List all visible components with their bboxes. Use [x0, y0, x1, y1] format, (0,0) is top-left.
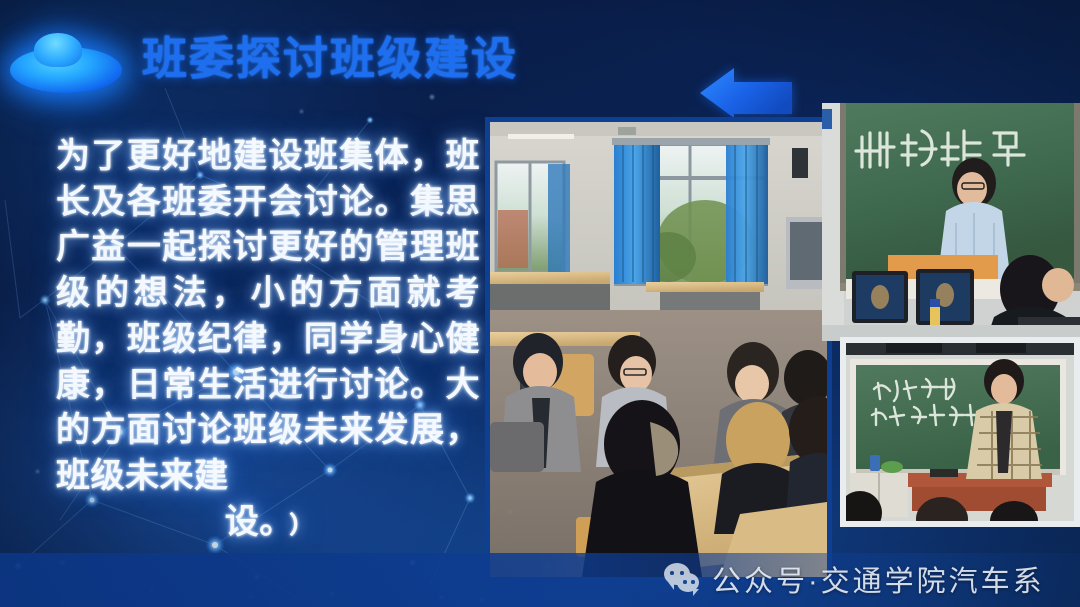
body-paragraph: 为了更好地建设班集体，班长及各班委开会讨论。集思广益一起探讨更好的管理班级的想法… [56, 134, 480, 545]
presentation-slide: 班委探讨班级建设 为了更好地建设班集体，班长及各班委开会讨论。集思广益一起探讨更… [0, 0, 1080, 607]
left-arrow-icon [700, 66, 792, 118]
podium-speech-photo [840, 337, 1080, 527]
blackboard-meeting-photo [822, 103, 1080, 341]
glowing-ufo-icon [10, 27, 122, 95]
wechat-logo-icon [664, 563, 702, 595]
classroom-students-photo [485, 117, 832, 582]
page-title: 班委探讨班级建设 [142, 36, 518, 81]
body-paragraph-last-line: 设。﹚ [56, 500, 480, 546]
wechat-watermark: 公众号·交通学院汽车系 [664, 559, 1045, 599]
watermark-text: 公众号·交通学院汽车系 [712, 558, 1045, 600]
body-paragraph-text: 为了更好地建设班集体，班长及各班委开会讨论。集思广益一起探讨更好的管理班级的想法… [56, 137, 480, 495]
